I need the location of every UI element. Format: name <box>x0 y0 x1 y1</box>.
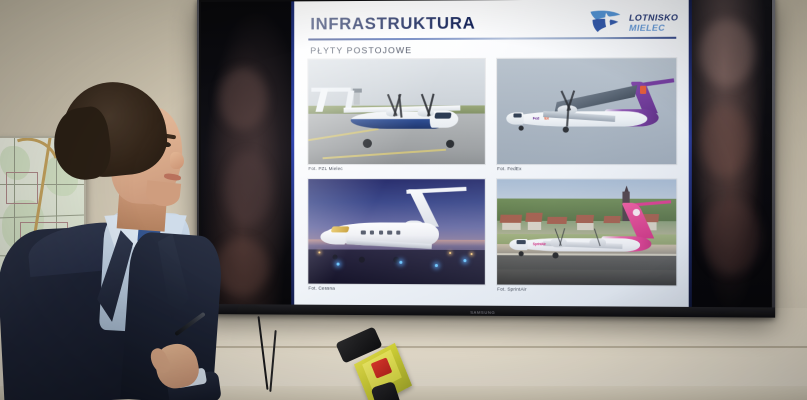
logo-line-1: LOTNISKO <box>629 13 678 22</box>
nose <box>170 152 184 169</box>
slide-photo-cell: FedEx Fot. FedEx <box>497 58 676 171</box>
room-baseboard <box>190 346 807 348</box>
slide-title: INFRASTRUKTURA <box>310 14 475 34</box>
photo-caption: Fot. Cessna <box>308 283 485 291</box>
lotnisko-mielec-bird-mark <box>589 9 624 38</box>
photo-fedex-atr: FedEx <box>497 58 676 163</box>
slide-edge-glow-right <box>689 0 692 307</box>
photo-cessna-jet <box>308 179 485 284</box>
logo-wordmark: LOTNISKO MIELEC <box>629 13 678 32</box>
photo-sprintair-saab: SprintAir <box>497 179 676 285</box>
slide-subtitle: PŁYTY POSTOJOWE <box>310 45 412 55</box>
tv-brand-label: SAMSUNG <box>470 310 495 315</box>
speaker-person <box>6 78 216 400</box>
slide-photo-cell: Fot. PZL Mielec <box>308 59 485 171</box>
screenshot-scene: INFRASTRUKTURA PŁYTY POSTOJOWE LO <box>0 0 807 400</box>
presentation-slide: INFRASTRUKTURA PŁYTY POSTOJOWE LO <box>294 0 688 307</box>
wall-mounted-tv: INFRASTRUKTURA PŁYTY POSTOJOWE LO <box>197 0 775 318</box>
slide-logo: LOTNISKO MIELEC <box>589 7 679 38</box>
tv-screen: INFRASTRUKTURA PŁYTY POSTOJOWE LO <box>201 0 771 307</box>
slide-photo-cell: SprintAir Fot. SprintAir <box>497 179 676 292</box>
photo-caption: Fot. FedEx <box>497 164 676 172</box>
photo-caption: Fot. PZL Mielec <box>308 164 485 172</box>
screen-reflection-right <box>690 0 771 307</box>
slide-photo-grid: Fot. PZL Mielec FedEx <box>308 58 676 292</box>
tv-right-edge <box>772 0 775 318</box>
press-microphone <box>340 338 432 400</box>
slide-photo-cell: Fot. Cessna <box>308 179 485 291</box>
photo-m28-skytruck <box>308 59 485 164</box>
logo-line-2: MIELEC <box>629 23 678 32</box>
photo-caption: Fot. SprintAir <box>497 284 676 293</box>
